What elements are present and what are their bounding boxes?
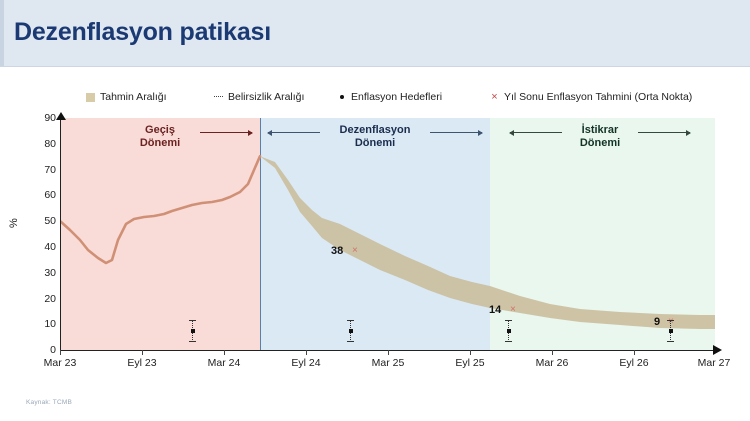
arrow-istikrar-right-icon [638, 132, 690, 133]
legend-item-belirsizlik-araligi: Belirsizlik Aralığı [214, 86, 304, 108]
arrow-dezenflasyon-left-icon [268, 132, 320, 133]
x-tick-label: Eyl 26 [619, 357, 648, 369]
legend-item-yil-sonu-tahmini: × Yıl Sonu Enflasyon Tahmini (Orta Nokta… [490, 86, 692, 108]
period-label-line1: İstikrar [580, 124, 620, 137]
data-label-14: 14 [489, 304, 501, 316]
chart-data-graphics [60, 118, 715, 350]
arrow-gecis-right-icon [200, 132, 252, 133]
y-tick-label: 90 [30, 112, 56, 124]
y-tick-label: 20 [30, 293, 56, 305]
target-marker-2024 [346, 320, 355, 342]
y-tick-label: 60 [30, 189, 56, 201]
y-tick-label: 40 [30, 241, 56, 253]
dotted-line-swatch-icon [214, 96, 223, 97]
source-note: Kaynak: TCMB [26, 399, 72, 406]
x-tick-label: Mar 25 [372, 357, 405, 369]
x-tick-label: Mar 26 [536, 357, 569, 369]
forecast-band [260, 156, 715, 329]
y-tick-label: 80 [30, 138, 56, 150]
x-tick-label: Eyl 23 [127, 357, 156, 369]
x-axis-arrow-icon [713, 345, 722, 355]
legend-label: Enflasyon Hedefleri [351, 91, 442, 103]
x-tick-label: Mar 23 [44, 357, 77, 369]
y-axis-ticks: 90 80 70 60 50 40 30 20 10 0 [28, 118, 56, 350]
period-label-line2: Dönemi [580, 137, 620, 150]
period-label-istikrar: İstikrar Dönemi [580, 124, 620, 150]
period-label-gecis: Geçiş Dönemi [140, 124, 180, 150]
page-title: Dezenflasyon patikası [14, 18, 271, 47]
target-marker-2025 [504, 320, 513, 342]
historical-inflation-line [60, 156, 260, 263]
x-marker-38-icon: × [352, 246, 358, 256]
arrow-istikrar-left-icon [510, 132, 562, 133]
x-tick-label: Eyl 25 [455, 357, 484, 369]
period-label-line2: Dönemi [140, 137, 180, 150]
filled-square-swatch-icon [86, 93, 95, 102]
target-marker-2026 [666, 320, 675, 342]
data-label-9: 9 [654, 316, 660, 328]
legend-item-enflasyon-hedefleri: Enflasyon Hedefleri [338, 86, 442, 108]
target-marker-2023 [188, 320, 197, 342]
y-axis-line [60, 118, 61, 350]
arrow-dezenflasyon-right-icon [430, 132, 482, 133]
x-tick-label: Eyl 24 [291, 357, 320, 369]
data-label-38: 38 [331, 245, 343, 257]
x-cross-swatch-icon: × [490, 93, 499, 102]
chart-legend: Tahmin Aralığı Belirsizlik Aralığı Enfla… [0, 86, 750, 108]
chart-plot-area: Geçiş Dönemi Dezenflasyon Dönemi İstikra… [60, 118, 715, 350]
y-tick-label: 30 [30, 267, 56, 279]
x-tick-label: Mar 27 [698, 357, 731, 369]
y-axis-title: % [8, 218, 20, 228]
x-marker-14-icon: × [510, 305, 516, 315]
period-label-line1: Dezenflasyon [340, 124, 411, 137]
period-label-line1: Geçiş [140, 124, 180, 137]
period-label-line2: Dönemi [340, 137, 411, 150]
x-tick-label: Mar 24 [208, 357, 241, 369]
y-tick-label: 10 [30, 318, 56, 330]
legend-item-tahmin-araligi: Tahmin Aralığı [86, 86, 167, 108]
legend-label: Belirsizlik Aralığı [228, 91, 304, 103]
y-axis-arrow-icon [56, 112, 66, 120]
dot-swatch-icon [340, 95, 344, 99]
legend-label: Tahmin Aralığı [100, 91, 167, 103]
legend-label: Yıl Sonu Enflasyon Tahmini (Orta Nokta) [504, 91, 692, 103]
y-tick-label: 50 [30, 215, 56, 227]
header-bar: Dezenflasyon patikası [0, 0, 750, 67]
y-tick-label: 0 [30, 344, 56, 356]
period-label-dezenflasyon: Dezenflasyon Dönemi [340, 124, 411, 150]
y-tick-label: 70 [30, 164, 56, 176]
